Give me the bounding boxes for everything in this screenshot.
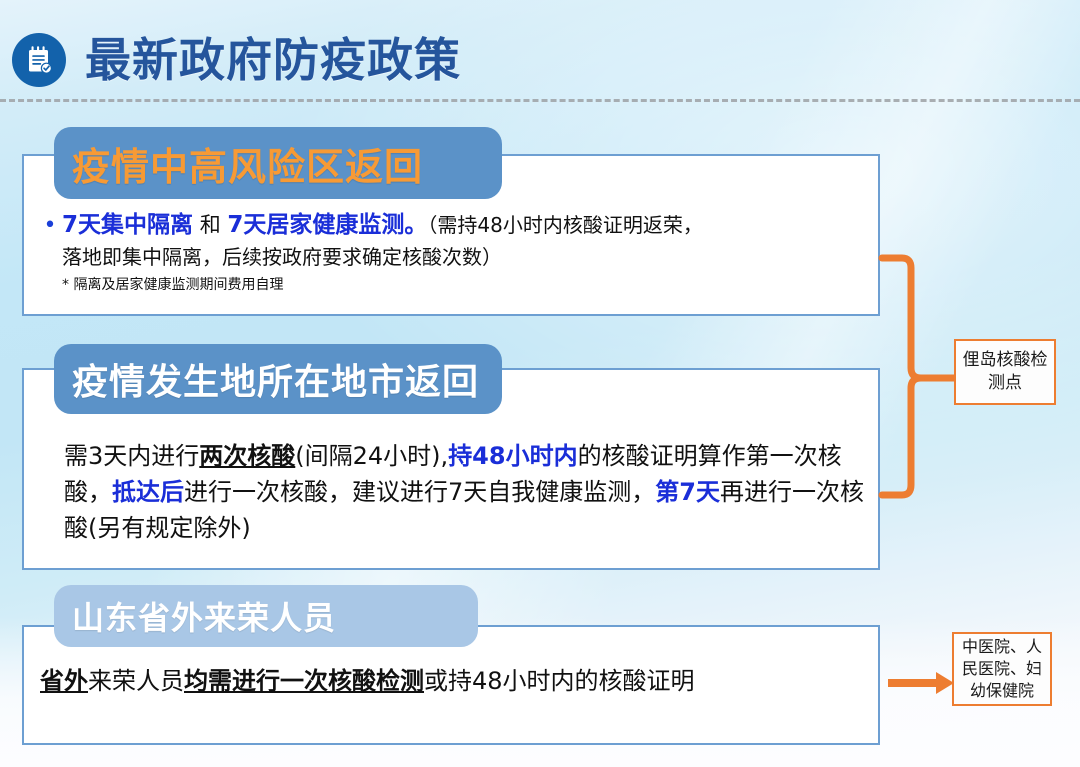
province-t4: 或持48小时内的核酸证明	[424, 667, 695, 695]
province-t2: 来荣人员	[88, 667, 184, 695]
outbreak-on-arrival: 抵达后	[112, 478, 184, 506]
outbreak-two-tests: 两次核酸	[199, 442, 295, 470]
slide-header: 最新政府防疫政策	[0, 20, 1080, 100]
high-risk-line-2: 落地即集中隔离，后续按政府要求确定核酸次数）	[62, 241, 868, 273]
highlight-7day-centralized: 7天集中隔离	[62, 212, 193, 238]
notepad-check-icon	[12, 33, 66, 87]
section-badge-high-risk-label: 疫情中高风险区返回	[72, 136, 423, 191]
province-outside: 省外	[40, 667, 88, 695]
section-badge-out-of-province: 山东省外来荣人员	[54, 585, 478, 647]
outbreak-t1: 需3天内进行	[64, 442, 199, 470]
section-badge-high-risk: 疫情中高风险区返回	[54, 127, 502, 199]
outbreak-t7: 进行一次核酸，建议进行7天自我健康监测，	[184, 478, 655, 506]
bracket-lower-arm	[882, 378, 921, 495]
outbreak-day7: 第7天	[655, 478, 720, 506]
callout-liedao-label: 俚岛核酸检测点	[956, 349, 1054, 395]
page-title: 最新政府防疫政策	[85, 37, 461, 83]
slide-canvas: 最新政府防疫政策 疫情中高风险区返回 • 7天集中隔离 和 7天居家健康监测。（…	[0, 0, 1080, 767]
outbreak-48h: 持48小时内	[448, 442, 577, 470]
callout-liedao-testing-site: 俚岛核酸检测点	[954, 339, 1056, 405]
policy-body-high-risk: • 7天集中隔离 和 7天居家健康监测。（需持48小时内核酸证明返荣， 落地即集…	[38, 210, 868, 294]
policy-body-out-of-province: 省外来荣人员均需进行一次核酸检测或持48小时内的核酸证明	[40, 664, 840, 698]
callout-hospital-label: 中医院、人民医院、妇幼保健院	[959, 636, 1045, 702]
line1-connector: 和	[193, 213, 227, 237]
bullet-icon: •	[38, 211, 62, 241]
policy-body-outbreak-city: 需3天内进行两次核酸(间隔24小时),持48小时内的核酸证明算作第一次核酸，抵达…	[64, 438, 864, 546]
line1-period: 。	[404, 212, 427, 238]
line1-parenthetical: （需持48小时内核酸证明返荣，	[427, 213, 702, 237]
province-must-test: 均需进行一次核酸检测	[184, 667, 424, 695]
section-badge-out-of-province-label: 山东省外来荣人员	[72, 593, 336, 639]
bracket-upper-arm	[882, 258, 954, 378]
outbreak-t3: (间隔24小时),	[295, 442, 448, 470]
section-badge-outbreak-city: 疫情发生地所在地市返回	[54, 344, 502, 414]
callout-hospital-testing-sites: 中医院、人民医院、妇幼保健院	[952, 632, 1052, 706]
highlight-7day-home-monitor: 7天居家健康监测	[227, 212, 404, 238]
section-badge-outbreak-city-label: 疫情发生地所在地市返回	[72, 353, 479, 405]
header-divider	[0, 99, 1080, 102]
high-risk-footnote: * 隔离及居家健康监测期间费用自理	[62, 276, 868, 294]
high-risk-line-1: • 7天集中隔离 和 7天居家健康监测。（需持48小时内核酸证明返荣，	[38, 210, 868, 241]
